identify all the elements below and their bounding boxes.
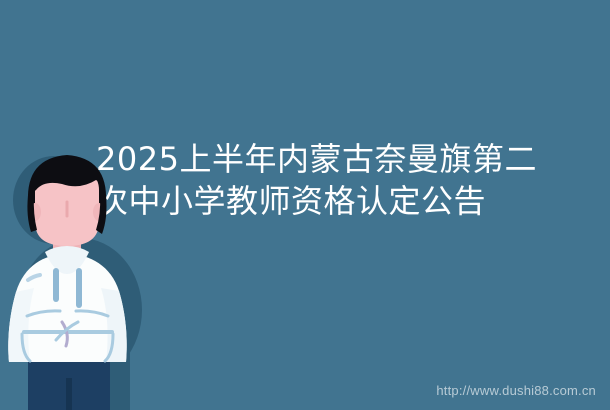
head [27, 155, 106, 246]
person-illustration-svg [0, 150, 150, 410]
title-line-1: 2025上半年内蒙古奈曼旗第二 [96, 138, 496, 180]
drawstring-left [53, 268, 59, 302]
banner-title: 2025上半年内蒙古奈曼旗第二 次中小学教师资格认定公告 [96, 138, 496, 222]
banner-image: 2025上半年内蒙古奈曼旗第二 次中小学教师资格认定公告 http://www.… [0, 0, 610, 410]
person-illustration [0, 150, 150, 410]
drawstring-right [76, 268, 82, 308]
title-line-2: 次中小学教师资格认定公告 [96, 180, 496, 222]
pants [28, 355, 110, 410]
watermark-url: http://www.dushi88.com.cn [436, 383, 596, 399]
